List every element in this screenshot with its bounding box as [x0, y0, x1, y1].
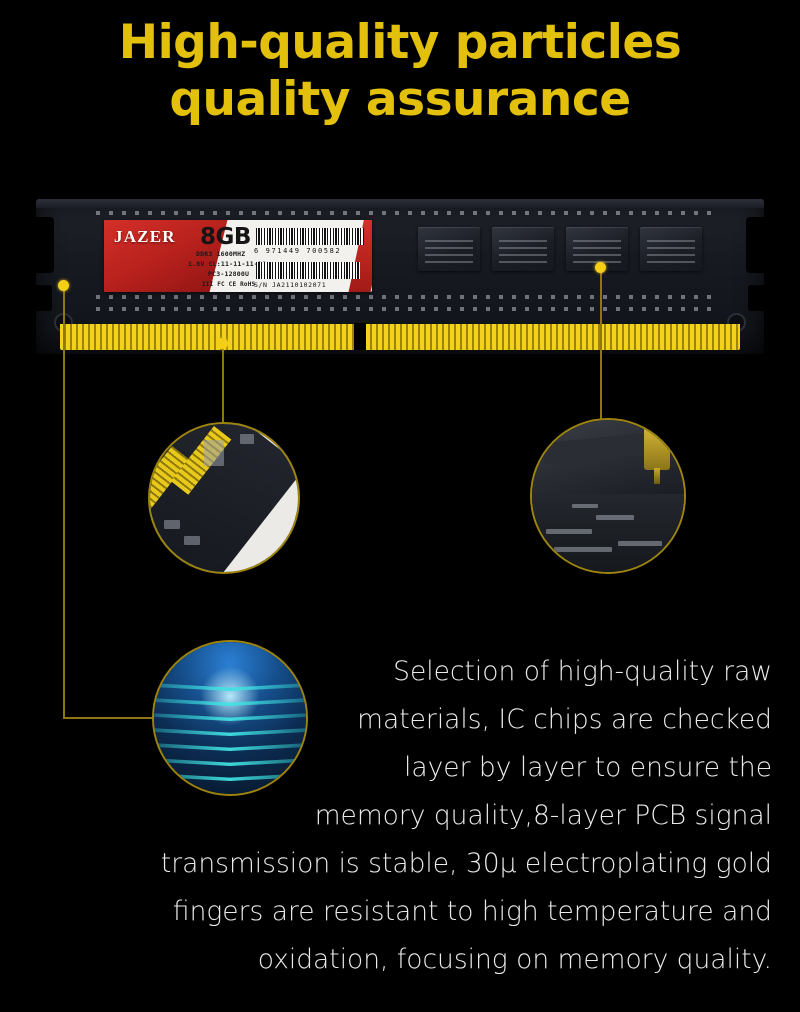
product-label: JAZER 8GB DDR3 1600MHZ 1.8V CL:11-11-11-… — [104, 220, 372, 292]
macro-smd-part — [240, 434, 254, 444]
macro-pcb-trace — [572, 504, 598, 508]
description-line-6: fingers are resistant to high temperatur… — [60, 888, 772, 936]
lead-line-memory-chip — [600, 268, 602, 424]
barcode-bottom — [256, 262, 360, 279]
lead-line-horizontal-left — [63, 717, 163, 719]
callout-machine-nozzle-macro — [530, 418, 686, 574]
memory-chip — [492, 227, 554, 271]
macro-smd-part — [184, 536, 200, 545]
brand-logo: JAZER — [114, 227, 176, 247]
title-line-2: quality assurance — [0, 71, 800, 128]
timing-text: 1.8V CL:11-11-11-28 — [188, 260, 266, 268]
macro-pcb-trace — [596, 515, 634, 520]
serial-number: S/N JA2110102071 — [254, 281, 326, 289]
macro-smd-part — [164, 520, 180, 529]
hotspot-left-edge — [58, 280, 69, 291]
macro-machine-nozzle — [644, 424, 670, 470]
pcb-notch-left-bottom — [36, 285, 52, 311]
macro-smd-part — [204, 440, 224, 466]
memory-chip — [640, 227, 702, 271]
pcb-notch-right-top — [746, 217, 764, 273]
module-type-text: PC3-12800U — [208, 270, 249, 278]
silkscreen-row-top — [96, 211, 716, 215]
title-line-1: High-quality particles — [0, 14, 800, 71]
barcode-number: 6 971449 700582 — [254, 247, 341, 255]
callout-pcb-layer-tech — [152, 640, 308, 796]
hotspot-gold-fingers — [217, 338, 228, 349]
certification-marks: III FC CE RoHS — [202, 281, 255, 288]
description-line-4: memory quality,8-layer PCB signal — [60, 792, 772, 840]
pcb-notch-left-top — [36, 217, 54, 273]
macro-pcb-trace — [554, 547, 612, 552]
pcb-top-edge — [36, 199, 764, 208]
lead-line-vertical-left — [63, 286, 65, 718]
ram-module-photo: JAZER 8GB DDR3 1600MHZ 1.8V CL:11-11-11-… — [36, 199, 764, 354]
capacity-text: 8GB — [200, 224, 251, 250]
silkscreen-row-mid — [96, 295, 716, 299]
macro-pcb-trace — [546, 529, 592, 534]
silkscreen-row-low — [96, 307, 716, 311]
macro-machine-nozzle-tip — [654, 468, 660, 484]
description-line-7: oxidation, focusing on memory quality. — [60, 936, 772, 984]
memory-chip — [418, 227, 480, 271]
description-line-5: transmission is stable, 30μ electroplati… — [60, 840, 772, 888]
barcode-top — [256, 228, 364, 245]
macro-pcb-trace — [618, 541, 662, 546]
gold-fingers — [60, 324, 740, 350]
gold-finger-keying-notch — [354, 323, 366, 350]
hotspot-memory-chip — [595, 262, 606, 273]
pcb-notch-right-bottom — [748, 285, 764, 311]
callout-gold-fingers-macro — [148, 422, 300, 574]
lead-line-gold-fingers — [222, 344, 224, 428]
speed-text: DDR3 1600MHZ — [196, 250, 245, 258]
page-title: High-quality particles quality assurance — [0, 14, 800, 129]
